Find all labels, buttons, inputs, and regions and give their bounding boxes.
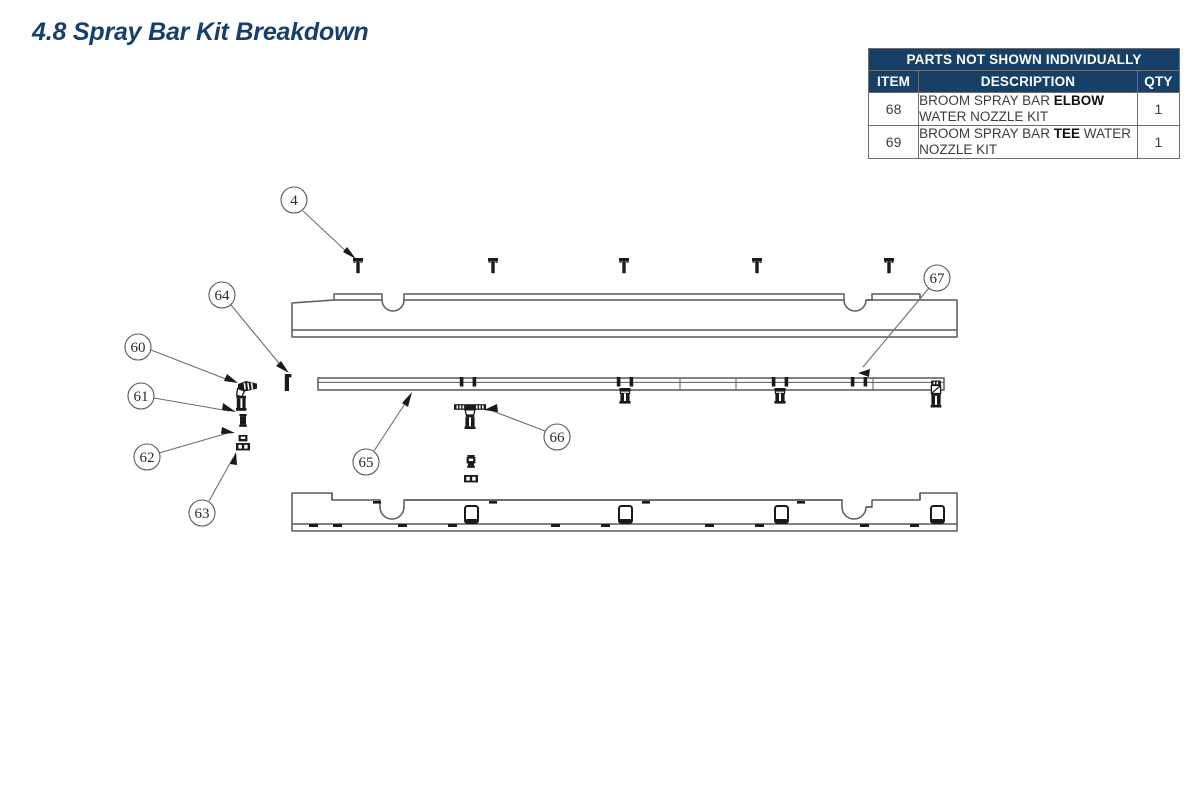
callout-label: 67 [930,271,946,287]
small-parts-stack [236,381,257,450]
tee-fitting-group [454,404,486,482]
arrowhead-65 [402,392,412,407]
callout-label: 61 [134,389,149,405]
callout-66[interactable]: 66 [544,424,570,450]
leader-line-64 [231,305,283,368]
callout-67[interactable]: 67 [924,265,950,291]
coupling-icon [236,443,250,450]
callout-4[interactable]: 4 [281,187,307,213]
outlet-port [465,506,478,523]
bolt-icon [884,258,894,273]
outlet-port [619,506,632,523]
leader-lines [151,211,929,501]
callout-65[interactable]: 65 [353,449,379,475]
elbow-nozzle-assembly [931,381,942,408]
callout-63[interactable]: 63 [189,500,215,526]
leader-line-65 [374,399,408,451]
leader-line-4 [303,211,349,254]
arrowhead-60 [224,374,238,383]
leader-line-66 [490,410,545,431]
callout-61[interactable]: 61 [128,383,154,409]
nipple-icon [239,414,247,427]
bolt-icon [752,258,762,273]
bolt-icon [488,258,498,273]
coupling-icon [464,475,478,482]
outlet-port [931,506,944,523]
angle-bracket-icon [285,374,292,391]
cap-icon [239,435,248,441]
callout-60[interactable]: 60 [125,334,151,360]
outlet-port [775,506,788,523]
callout-label: 4 [290,193,298,209]
arrowhead-67 [858,369,870,377]
callout-label: 63 [195,506,210,522]
leader-line-62 [159,433,228,453]
callout-64[interactable]: 64 [209,282,235,308]
callout-label: 60 [131,340,146,356]
spray-bar-exploded-diagram: 4 64 60 61 62 63 65 66 [0,0,1200,800]
arrowhead-66 [484,404,498,412]
callout-bubbles: 4 64 60 61 62 63 65 66 [125,187,950,526]
tee-fitting-icon [454,404,486,429]
top-bolt-row [353,258,894,273]
leader-line-60 [151,350,231,381]
leader-line-63 [209,458,233,501]
cap-icon [467,457,476,463]
arrowhead-4 [343,247,356,259]
callout-label: 64 [215,288,231,304]
callout-62[interactable]: 62 [134,444,160,470]
callout-label: 65 [359,455,374,471]
leader-line-61 [154,398,229,411]
bottom-bracket-marks [309,501,919,527]
arrowhead-63 [230,452,237,465]
top-bracket [292,294,957,337]
bolt-icon [619,258,629,273]
callout-label: 66 [550,430,566,446]
arrowhead-64 [276,361,289,373]
callout-label: 62 [140,450,155,466]
arrowhead-62 [221,427,235,434]
bottom-bracket-outlets [465,506,944,523]
hose-barb-icon [236,381,257,411]
bolt-icon [353,258,363,273]
